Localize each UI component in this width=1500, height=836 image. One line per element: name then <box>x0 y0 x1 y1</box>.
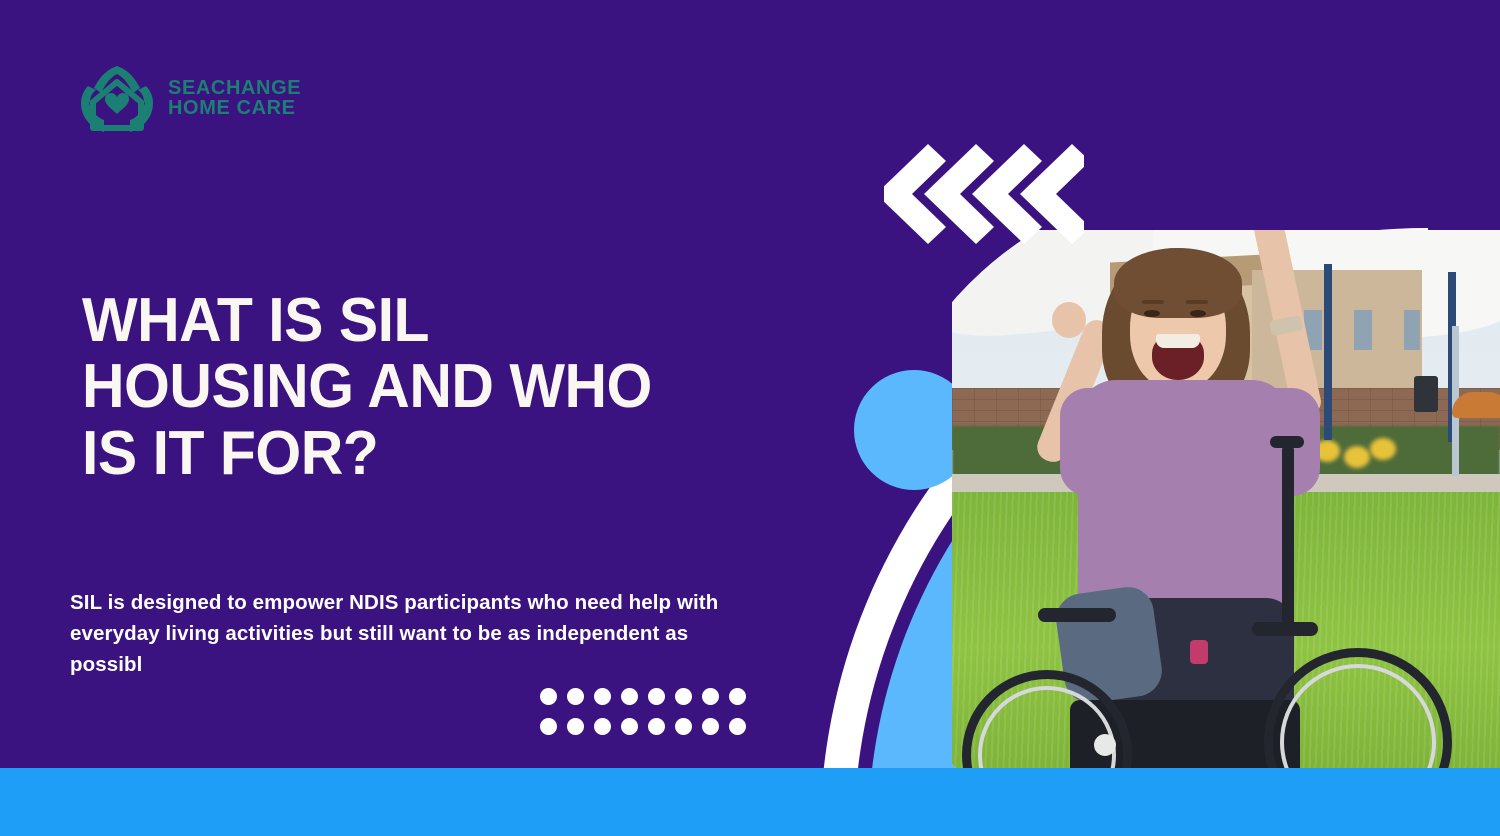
hands-house-heart-icon <box>78 62 156 134</box>
grid-dot <box>567 688 584 705</box>
dot-grid-decoration <box>540 688 756 748</box>
grid-dot <box>621 688 638 705</box>
grid-dot <box>594 718 611 735</box>
logo-line-1: SEACHANGE <box>168 78 301 98</box>
bottom-blue-bar <box>0 768 1500 836</box>
grid-dot <box>621 718 638 735</box>
page-title: WHAT IS SIL HOUSING AND WHO IS IT FOR? <box>82 288 738 489</box>
sil-housing-banner: SEACHANGE HOME CARE WHAT IS SIL HOUSING … <box>0 0 1500 836</box>
grid-dot <box>594 688 611 705</box>
grid-dot <box>675 718 692 735</box>
grid-dot <box>540 688 557 705</box>
grid-dot <box>702 718 719 735</box>
grid-dot <box>729 718 746 735</box>
grid-dot <box>540 718 557 735</box>
headline-line-3: IS IT FOR? <box>82 419 378 488</box>
double-chevron-left-decoration <box>884 144 1084 249</box>
logo-wordmark: SEACHANGE HOME CARE <box>168 78 301 119</box>
subtitle-text: SIL is designed to empower NDIS particip… <box>70 587 720 680</box>
grid-dot <box>702 688 719 705</box>
grid-dot <box>567 718 584 735</box>
logo-line-2: HOME CARE <box>168 98 301 118</box>
grid-dot <box>675 688 692 705</box>
grid-dot <box>729 688 746 705</box>
brand-logo[interactable]: SEACHANGE HOME CARE <box>78 62 301 134</box>
headline-line-2: HOUSING AND WHO <box>82 352 652 421</box>
grid-dot <box>648 718 665 735</box>
woman-in-wheelchair-celebrating-photo <box>952 230 1500 836</box>
grid-dot <box>648 688 665 705</box>
headline-line-1: WHAT IS SIL <box>82 286 429 355</box>
